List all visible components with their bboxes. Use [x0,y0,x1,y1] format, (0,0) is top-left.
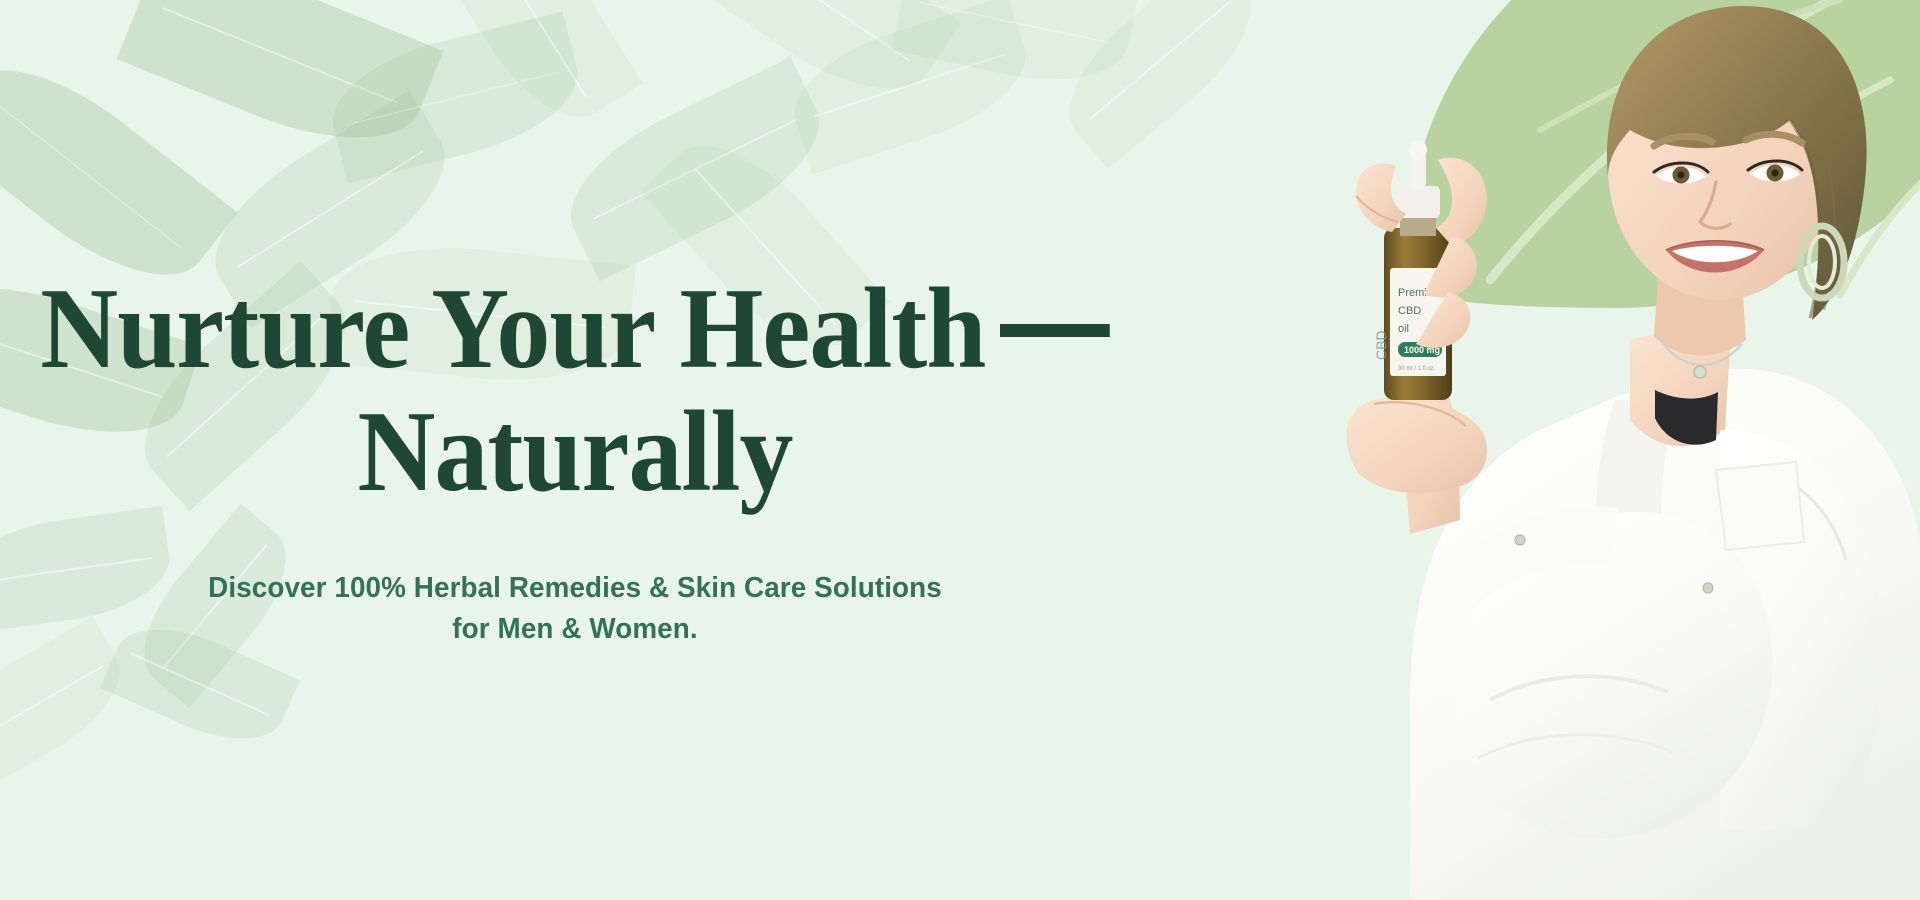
page-title: Nurture Your Health Naturally [40,268,1110,514]
hero-banner: Nurture Your Health Naturally Discover 1… [0,0,1920,900]
subheadline-line-2: for Men & Women. [452,613,697,645]
em-dash-icon [1000,324,1110,337]
svg-text:oil: oil [1398,323,1409,335]
svg-text:CBD: CBD [1398,305,1421,317]
svg-text:30 ml / 1 fl.oz.: 30 ml / 1 fl.oz. [1398,366,1436,372]
headline-line-2: Naturally [40,391,1110,514]
hero-subheadline: Discover 100% Herbal Remedies & Skin Car… [162,568,988,650]
hero-photo-woman-with-product: Premium CBD oil 1000 mg 30 ml / 1 fl.oz.… [1160,0,1920,900]
svg-text:CBD: CBD [1373,330,1389,360]
hero-text-column: Nurture Your Health Naturally Discover 1… [0,0,1150,900]
subheadline-line-1: Discover 100% Herbal Remedies & Skin Car… [208,572,942,604]
headline-line-1: Nurture Your Health [40,265,985,393]
